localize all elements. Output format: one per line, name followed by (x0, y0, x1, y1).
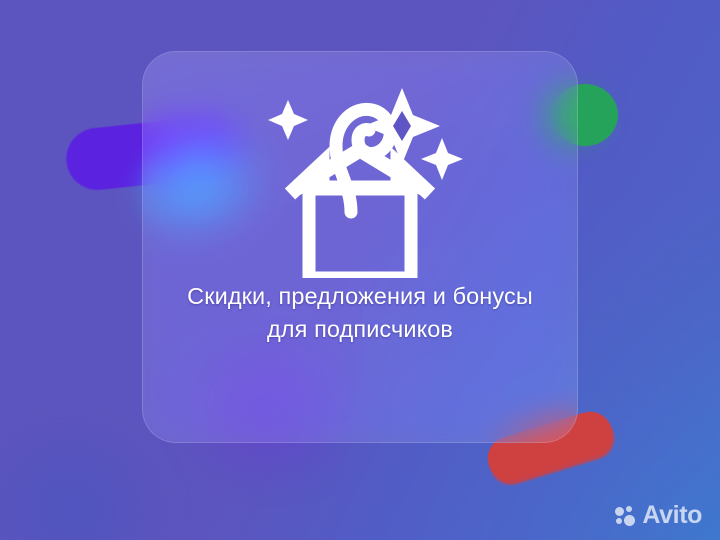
promo-banner: Скидки, предложения и бонусы для подписч… (0, 0, 720, 540)
promo-caption: Скидки, предложения и бонусы для подписч… (160, 280, 560, 347)
promo-caption-line-2: для подписчиков (160, 313, 560, 346)
gift-box-sparkles-icon (250, 66, 470, 278)
avito-dots-icon (615, 506, 637, 526)
avito-watermark: Avito (615, 503, 702, 528)
promo-card: Скидки, предложения и бонусы для подписч… (142, 51, 578, 443)
promo-caption-line-1: Скидки, предложения и бонусы (160, 280, 560, 313)
avito-brand-text: Avito (642, 503, 702, 528)
